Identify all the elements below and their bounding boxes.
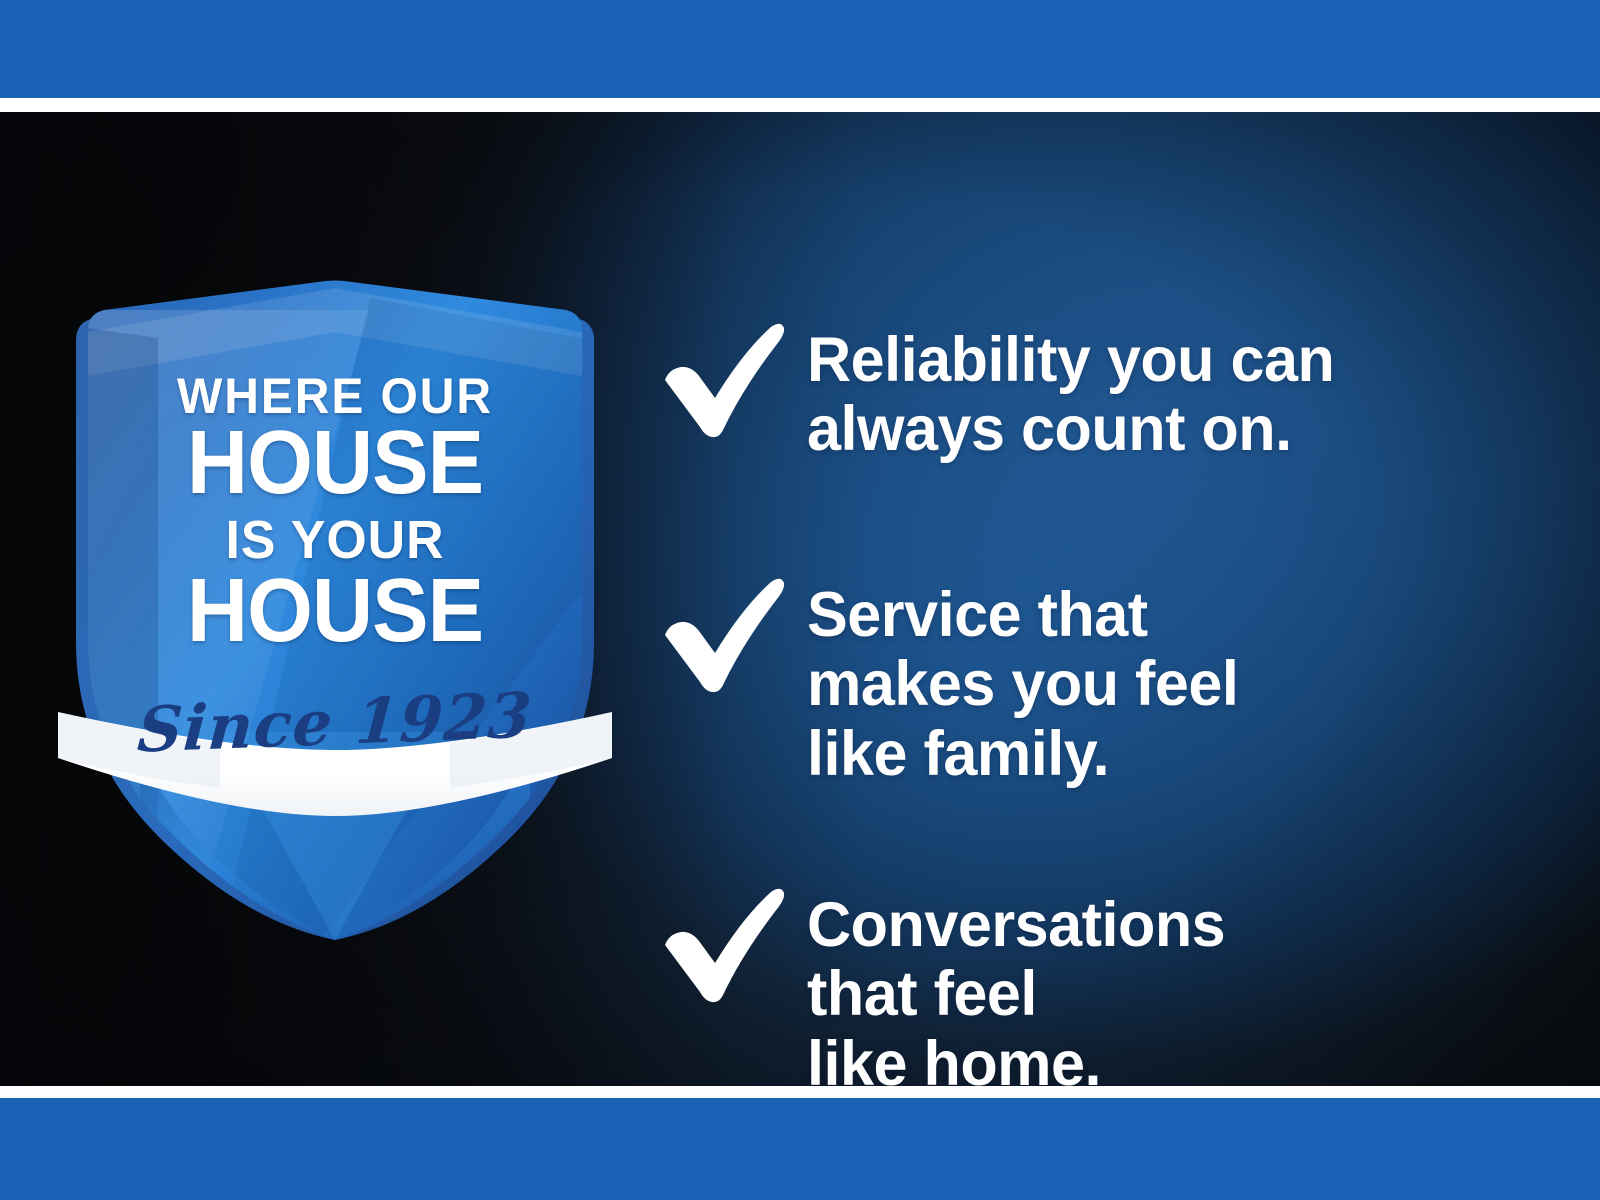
- benefit-text-3: Conversations that feel like home.: [807, 887, 1513, 1086]
- checkmark-icon: [655, 887, 785, 1003]
- benefit-item-2: Service that makes you feel like family.: [655, 577, 1535, 789]
- shield-icon: [70, 280, 600, 940]
- shield-badge: WHERE OUR HOUSE IS YOUR HOUSE Since 1923: [70, 280, 600, 940]
- benefit-item-1: Reliability you can always count on.: [655, 322, 1535, 465]
- promo-graphic: WHERE OUR HOUSE IS YOUR HOUSE Since 1923…: [0, 0, 1600, 1200]
- main-stage: WHERE OUR HOUSE IS YOUR HOUSE Since 1923…: [0, 112, 1600, 1086]
- bottom-brand-bar: [0, 1098, 1600, 1200]
- benefits-list: Reliability you can always count on. Ser…: [655, 287, 1535, 1086]
- benefit-2-line-2: makes you feel: [807, 650, 1513, 719]
- benefit-3-line-3: like home.: [807, 1030, 1513, 1086]
- checkmark-icon: [655, 577, 785, 693]
- benefit-3-line-1: Conversations: [807, 891, 1513, 960]
- benefit-1-line-2: always count on.: [807, 395, 1513, 464]
- benefit-2-line-3: like family.: [807, 720, 1513, 789]
- benefit-2-line-1: Service that: [807, 581, 1513, 650]
- benefit-1-line-1: Reliability you can: [807, 326, 1513, 395]
- benefit-text-2: Service that makes you feel like family.: [807, 577, 1513, 789]
- checkmark-icon: [655, 322, 785, 438]
- top-brand-bar: [0, 0, 1600, 98]
- benefit-3-line-2: that feel: [807, 960, 1513, 1029]
- benefit-text-1: Reliability you can always count on.: [807, 322, 1513, 465]
- benefit-item-3: Conversations that feel like home.: [655, 887, 1535, 1086]
